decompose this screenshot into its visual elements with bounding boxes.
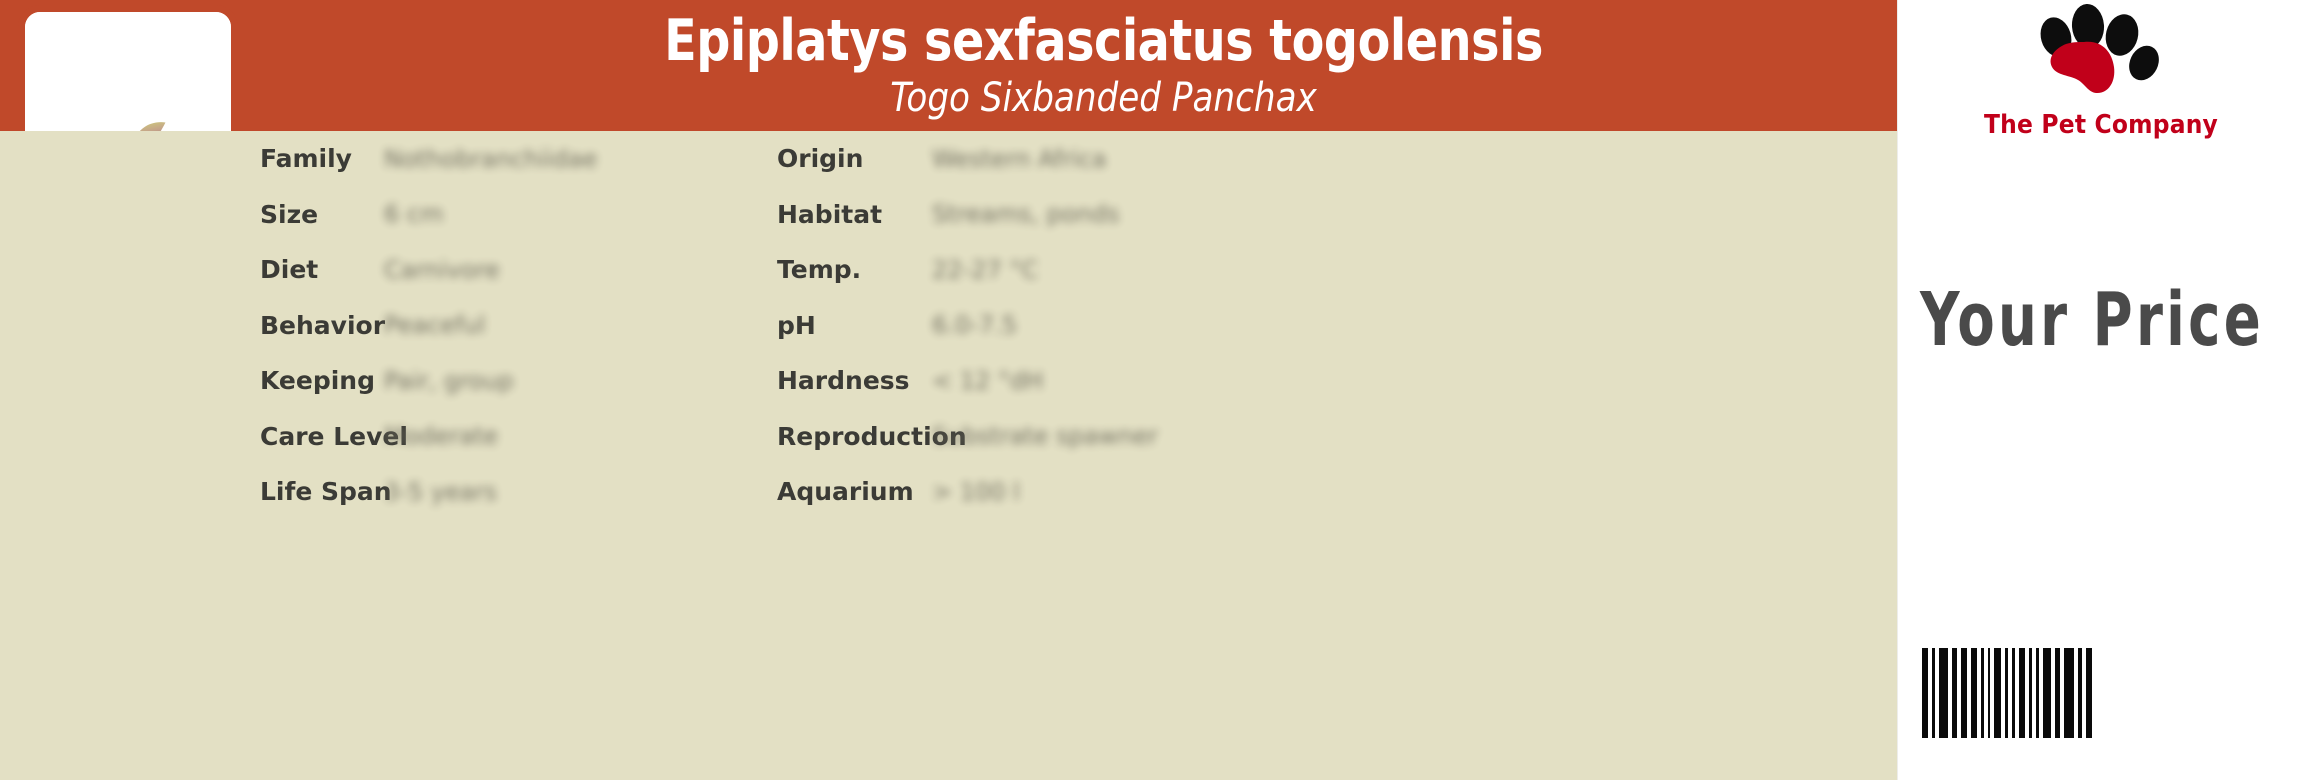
spec-row: Care Level Moderate — [260, 409, 780, 465]
spec-row: Diet Carnivore — [260, 242, 780, 298]
barcode-bar — [2064, 648, 2074, 738]
spec-row: Aquarium > 100 l — [777, 464, 1337, 520]
spec-label: Habitat — [777, 200, 932, 229]
barcode-bar — [1961, 648, 1967, 738]
spec-row: Family Nothobranchiidae — [260, 131, 780, 187]
spec-label: Size — [260, 200, 384, 229]
spec-label: Reproduction — [777, 422, 932, 451]
your-price-label: Your Price — [1920, 283, 2264, 357]
spec-column-right: Origin Western Africa Habitat Streams, p… — [777, 131, 1337, 520]
paw-print-icon — [2026, 4, 2176, 108]
spec-value: > 100 l — [932, 478, 1020, 506]
spec-row: Habitat Streams, ponds — [777, 187, 1337, 243]
spec-row: pH 6.0-7.5 — [777, 298, 1337, 354]
spec-column-left: Family Nothobranchiidae Size 6 cm Diet C… — [260, 131, 780, 520]
barcode-bar — [2019, 648, 2025, 738]
spec-value: 22-27 °C — [932, 256, 1038, 284]
header-band: Epiplatys sexfasciatus togolensis Togo S… — [0, 0, 1897, 131]
barcode-bar — [1988, 648, 1990, 738]
barcode — [1922, 648, 2096, 738]
barcode-bar — [1939, 648, 1948, 738]
spec-value: Moderate — [384, 422, 498, 450]
spec-row: Hardness < 12 °dH — [777, 353, 1337, 409]
barcode-bar — [2078, 648, 2082, 738]
barcode-bar — [2029, 648, 2032, 738]
spec-value: Substrate spawner — [932, 422, 1158, 450]
title-block: Epiplatys sexfasciatus togolensis Togo S… — [308, 0, 1898, 131]
spec-label: pH — [777, 311, 932, 340]
spec-label: Behavior — [260, 311, 384, 340]
spec-label: Care Level — [260, 422, 384, 451]
barcode-bar — [1932, 648, 1935, 738]
spec-label: Diet — [260, 255, 384, 284]
spec-body: Family Nothobranchiidae Size 6 cm Diet C… — [0, 131, 1897, 780]
spec-row: Origin Western Africa — [777, 131, 1337, 187]
barcode-bar — [1922, 648, 1928, 738]
spec-value: Streams, ponds — [932, 200, 1119, 228]
spec-label: Life Span — [260, 477, 384, 506]
barcode-bar — [1994, 648, 2001, 738]
barcode-bar — [1952, 648, 1957, 738]
barcode-bar — [2012, 648, 2015, 738]
spec-value: Peaceful — [384, 311, 485, 339]
common-name: Togo Sixbanded Panchax — [890, 73, 1317, 123]
spec-row: Reproduction Substrate spawner — [777, 409, 1337, 465]
barcode-bar — [2043, 648, 2051, 738]
spec-value: Carnivore — [384, 256, 500, 284]
spec-label: Hardness — [777, 366, 932, 395]
spec-label: Temp. — [777, 255, 932, 284]
spec-row: Size 6 cm — [260, 187, 780, 243]
spec-label: Family — [260, 144, 384, 173]
price-panel: The Pet Company Your Price — [1897, 0, 2303, 780]
scientific-name: Epiplatys sexfasciatus togolensis — [664, 8, 1543, 74]
spec-row: Temp. 22-27 °C — [777, 242, 1337, 298]
barcode-bar — [2086, 648, 2092, 738]
spec-row: Behavior Peaceful — [260, 298, 780, 354]
spec-value: 6 cm — [384, 200, 443, 228]
spec-row: Life Span 3-5 years — [260, 464, 780, 520]
spec-label: Keeping — [260, 366, 384, 395]
barcode-bar — [1971, 648, 1977, 738]
barcode-bar — [2055, 648, 2060, 738]
brand-name: The Pet Company — [1984, 110, 2218, 140]
barcode-bar — [2036, 648, 2039, 738]
shelf-label-card: Epiplatys sexfasciatus togolensis Togo S… — [0, 0, 2303, 780]
barcode-bar — [2005, 648, 2008, 738]
spec-value: < 12 °dH — [932, 367, 1043, 395]
spec-value: 6.0-7.5 — [932, 311, 1017, 339]
spec-value: Pair, group — [384, 367, 514, 395]
spec-label: Origin — [777, 144, 932, 173]
brand-logo: The Pet Company — [1898, 4, 2303, 149]
spec-value: Nothobranchiidae — [384, 145, 597, 173]
spec-value: 3-5 years — [384, 478, 497, 506]
spec-value: Western Africa — [932, 145, 1107, 173]
barcode-bar — [1981, 648, 1984, 738]
spec-row: Keeping Pair, group — [260, 353, 780, 409]
spec-label: Aquarium — [777, 477, 932, 506]
